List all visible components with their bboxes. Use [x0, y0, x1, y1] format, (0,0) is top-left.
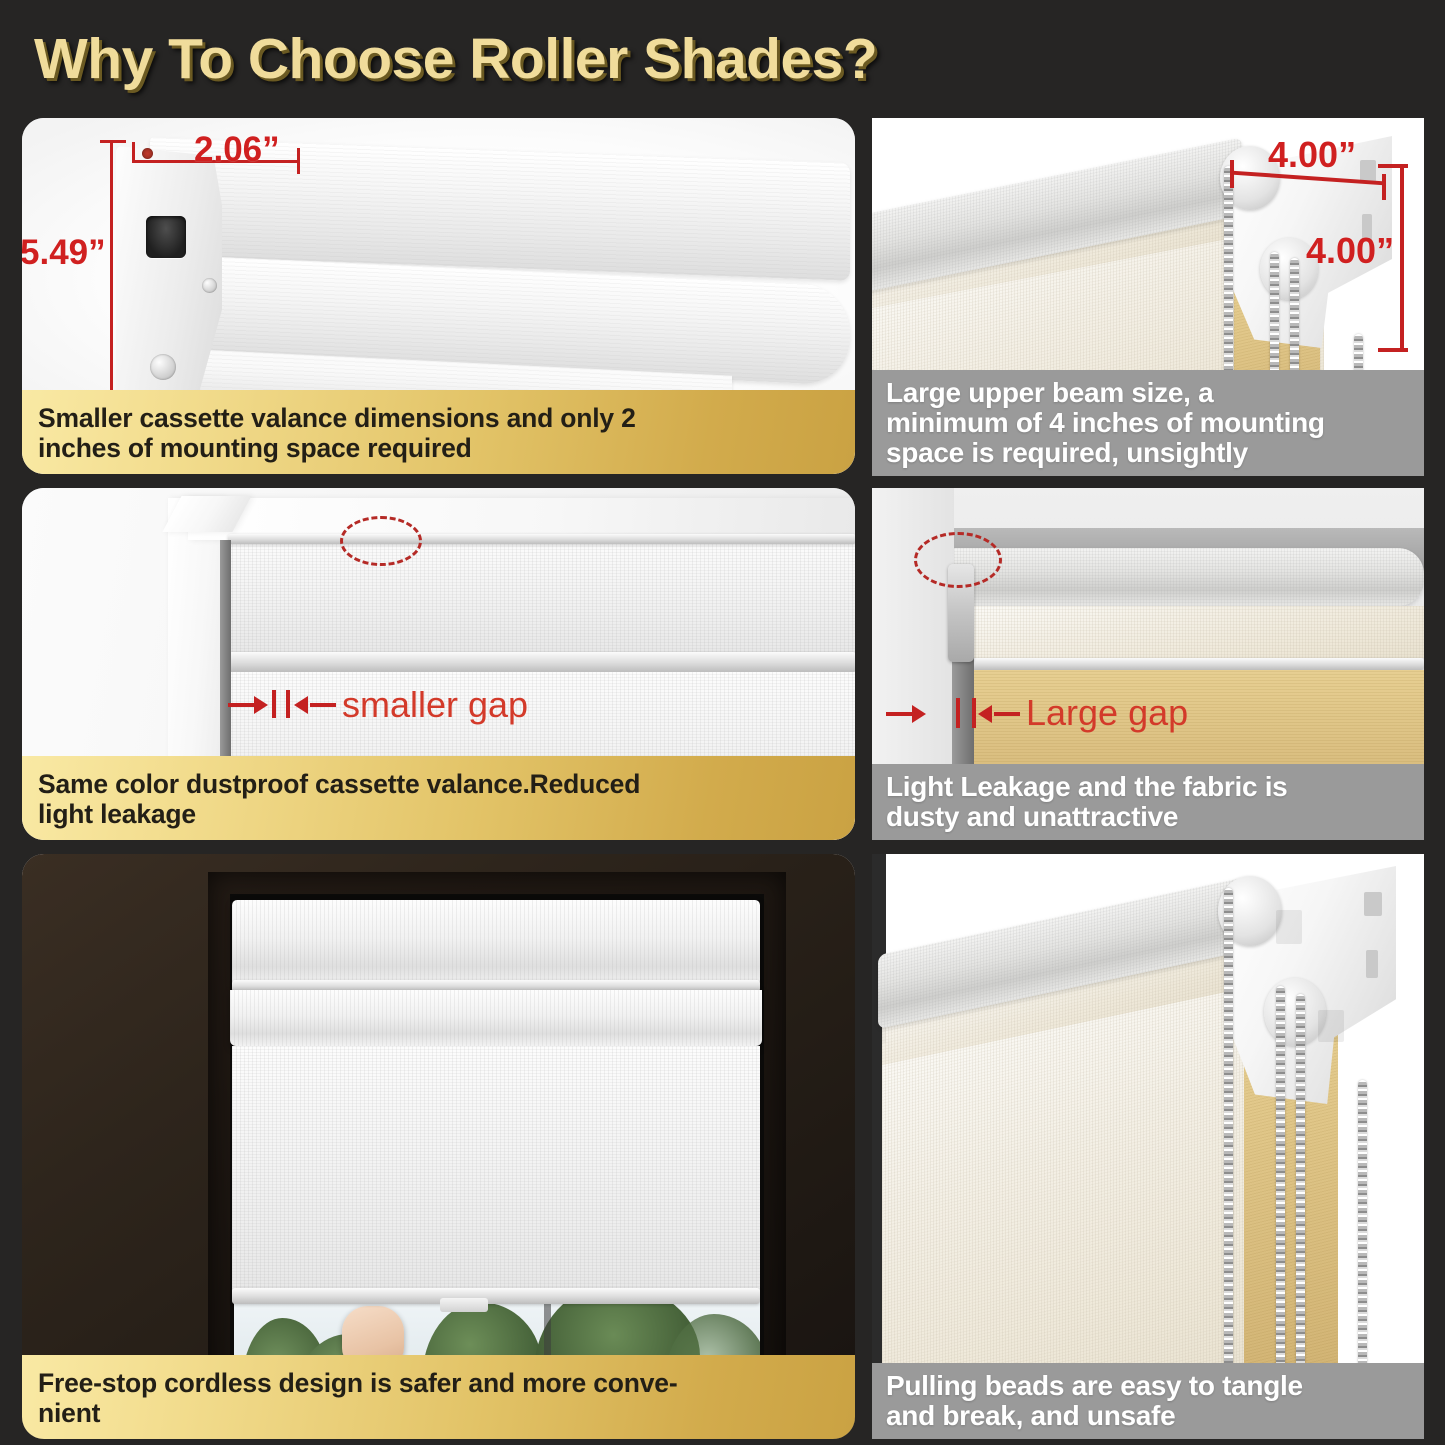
panel-large-upper-beam: 4.00” 4.00” Large upper beam size, a min…	[872, 118, 1424, 476]
exposed-roller-tube	[930, 548, 1424, 606]
page-title: Why To Choose Roller Shades?	[34, 26, 877, 92]
caption-line: Light Leakage and the fabric is	[886, 772, 1412, 802]
caption-line: dusty and unattractive	[886, 802, 1412, 832]
beam-height-label: 4.00”	[1306, 230, 1394, 272]
gap-arrow-right-head	[978, 705, 992, 723]
gap-arrow-left-head	[912, 705, 926, 723]
fabric-bottom-rail	[962, 658, 1424, 670]
panel-dustproof-valance: smaller gap Same color dustproof cassett…	[22, 488, 855, 840]
gap-arrow-right-shaft	[994, 712, 1020, 716]
shade-fabric	[232, 1046, 760, 1296]
panel-grid: 2.06” 5.49” Smaller cassette valance dim…	[0, 112, 1445, 1445]
panel-light-leakage: Large gap Light Leakage and the fabric i…	[872, 488, 1424, 840]
caption-line: Same color dustproof cassette valance.Re…	[38, 769, 839, 800]
highlight-ellipse	[340, 516, 422, 566]
valance-screw-lower	[150, 354, 176, 380]
gap-measure-tick-b	[286, 690, 290, 718]
shade-upper-fabric	[228, 538, 855, 658]
panel-2-caption: Large upper beam size, a minimum of 4 in…	[872, 370, 1424, 476]
panel-pulling-beads: Pulling beads are easy to tangle and bre…	[872, 854, 1424, 1439]
gap-measure-tick-a	[272, 690, 276, 718]
shade-bottom-rail	[228, 652, 855, 672]
beam-width-tick-right	[1382, 174, 1386, 200]
gap-arrow-right-shaft	[310, 703, 336, 707]
gap-arrow-left-head	[254, 696, 268, 714]
shade-pull-tab	[440, 1298, 488, 1312]
bracket-slot-icon-2	[1318, 1010, 1344, 1042]
beam-height-tick-top	[1378, 164, 1408, 168]
bracket-slot-icon-1	[1276, 910, 1302, 944]
infographic-root: Why To Choose Roller Shades? 2.0	[0, 0, 1445, 1445]
cassette-valance-lower	[230, 990, 762, 1046]
bracket-notch-1	[1364, 892, 1382, 916]
dim-height-label: 5.49”	[22, 233, 106, 273]
panel-cordless-design: Free-stop cordless design is safer and m…	[22, 854, 855, 1439]
panel-5-caption: Free-stop cordless design is safer and m…	[22, 1355, 855, 1439]
caption-line: Free-stop cordless design is safer and m…	[38, 1368, 839, 1399]
gap-measure-tick-a	[956, 698, 960, 728]
valance-screw-top	[142, 148, 153, 159]
caption-line: minimum of 4 inches of mounting	[886, 408, 1412, 438]
gap-label: Large gap	[1026, 692, 1188, 734]
dim-width-tick-right	[297, 148, 300, 174]
caption-line: light leakage	[38, 799, 839, 830]
fabric-cream-band	[966, 606, 1424, 658]
valance-control-slot	[146, 216, 186, 258]
dim-height-line	[110, 140, 113, 418]
shade-head-rail	[228, 534, 855, 544]
cassette-valance-head	[232, 900, 760, 986]
dim-width-tick-left	[132, 142, 135, 162]
roller-endcap-lower	[1264, 978, 1326, 1046]
caption-line: Large upper beam size, a	[886, 378, 1412, 408]
panel-1-caption: Smaller cassette valance dimensions and …	[22, 390, 855, 474]
beam-height-tick-bottom	[1378, 348, 1408, 352]
panel-cassette-dimensions: 2.06” 5.49” Smaller cassette valance dim…	[22, 118, 855, 474]
panel-4-caption: Light Leakage and the fabric is dusty an…	[872, 764, 1424, 840]
panel-5-photo	[22, 854, 855, 1439]
shade-bottom-bar	[232, 1288, 760, 1304]
bracket-notch-2	[1366, 950, 1378, 978]
highlight-ellipse	[914, 532, 1002, 588]
panel-6-caption: Pulling beads are easy to tangle and bre…	[872, 1363, 1424, 1439]
panel-6-photo	[872, 854, 1424, 1439]
caption-line: Smaller cassette valance dimensions and …	[38, 403, 839, 434]
caption-line: nient	[38, 1398, 839, 1429]
caption-line: space is required, unsightly	[886, 438, 1412, 468]
dim-width-label: 2.06”	[194, 130, 280, 170]
bead-chain-1	[1224, 888, 1233, 1436]
gap-arrow-left-shaft	[228, 703, 256, 707]
beam-width-tick-left	[1230, 160, 1234, 188]
gap-label: smaller gap	[342, 684, 528, 726]
caption-line: and break, and unsafe	[886, 1401, 1412, 1431]
beam-width-label: 4.00”	[1268, 134, 1356, 176]
caption-line: inches of mounting space required	[38, 433, 839, 464]
gap-measure-tick-b	[972, 698, 976, 728]
gap-arrow-left-shaft	[886, 712, 914, 716]
valance-screw-upper	[202, 278, 217, 293]
caption-line: Pulling beads are easy to tangle	[886, 1371, 1412, 1401]
bracket-notch-1	[1360, 160, 1376, 182]
gap-arrow-right-head	[294, 696, 308, 714]
dim-height-tick-top	[100, 140, 126, 143]
panel-3-caption: Same color dustproof cassette valance.Re…	[22, 756, 855, 840]
beam-height-line	[1400, 164, 1404, 352]
